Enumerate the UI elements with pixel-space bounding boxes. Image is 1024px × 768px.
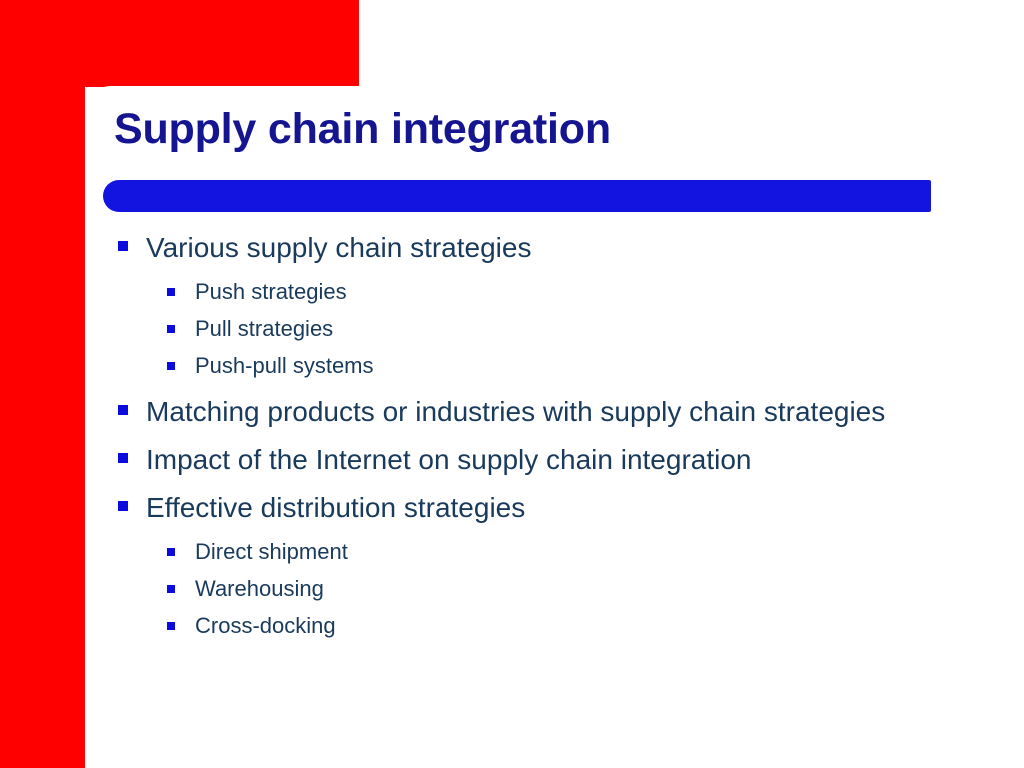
bullet-square-icon (118, 405, 128, 415)
bullet-text: Effective distribution strategies (146, 488, 525, 528)
red-header-block-decoration (0, 0, 359, 87)
bullet-item-level2: Push strategies (0, 276, 1024, 307)
bullet-item-level1: Impact of the Internet on supply chain i… (0, 440, 1024, 480)
bullet-item-level2: Push-pull systems (0, 350, 1024, 381)
bullet-text: Cross-docking (195, 610, 336, 641)
bullet-text: Various supply chain strategies (146, 228, 531, 268)
bullet-square-icon (167, 362, 175, 370)
slide-body-bullet-list: Various supply chain strategies Push str… (0, 228, 1024, 647)
bullet-text: Pull strategies (195, 313, 333, 344)
bullet-text: Warehousing (195, 573, 324, 604)
bullet-text: Push-pull systems (195, 350, 374, 381)
bullet-text: Impact of the Internet on supply chain i… (146, 440, 752, 480)
bullet-item-level2: Cross-docking (0, 610, 1024, 641)
bullet-square-icon (167, 288, 175, 296)
bullet-text: Push strategies (195, 276, 347, 307)
bullet-item-level1: Various supply chain strategies (0, 228, 1024, 268)
bullet-item-level2: Pull strategies (0, 313, 1024, 344)
bullet-square-icon (167, 585, 175, 593)
bullet-item-level2: Warehousing (0, 573, 1024, 604)
bullet-item-level1: Matching products or industries with sup… (0, 392, 1024, 432)
bullet-square-icon (118, 453, 128, 463)
bullet-square-icon (167, 325, 175, 333)
bullet-square-icon (118, 501, 128, 511)
bullet-square-icon (167, 548, 175, 556)
presentation-slide: Supply chain integration Various supply … (0, 0, 1024, 768)
title-divider-bar (103, 180, 931, 212)
bullet-text: Direct shipment (195, 536, 348, 567)
bullet-item-level2: Direct shipment (0, 536, 1024, 567)
slide-title: Supply chain integration (114, 104, 611, 154)
bullet-square-icon (118, 241, 128, 251)
bullet-text: Matching products or industries with sup… (146, 392, 885, 432)
bullet-item-level1: Effective distribution strategies (0, 488, 1024, 528)
bullet-square-icon (167, 622, 175, 630)
